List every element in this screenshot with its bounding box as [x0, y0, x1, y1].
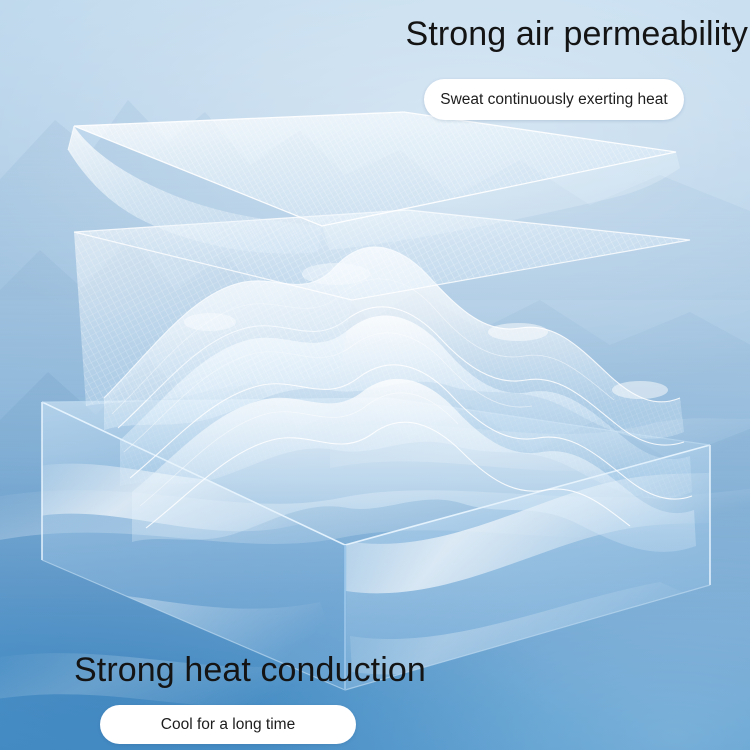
- infographic-canvas: Strong air permeability Sweat continuous…: [0, 0, 750, 750]
- badge-bottom-label: Cool for a long time: [161, 716, 295, 734]
- badge-sweat-exerting-heat: Sweat continuously exerting heat: [424, 79, 684, 120]
- page-title-top: Strong air permeability: [406, 17, 748, 51]
- badge-cool-long-time: Cool for a long time: [100, 705, 356, 744]
- page-title-bottom: Strong heat conduction: [74, 653, 426, 687]
- badge-top-label: Sweat continuously exerting heat: [440, 91, 667, 109]
